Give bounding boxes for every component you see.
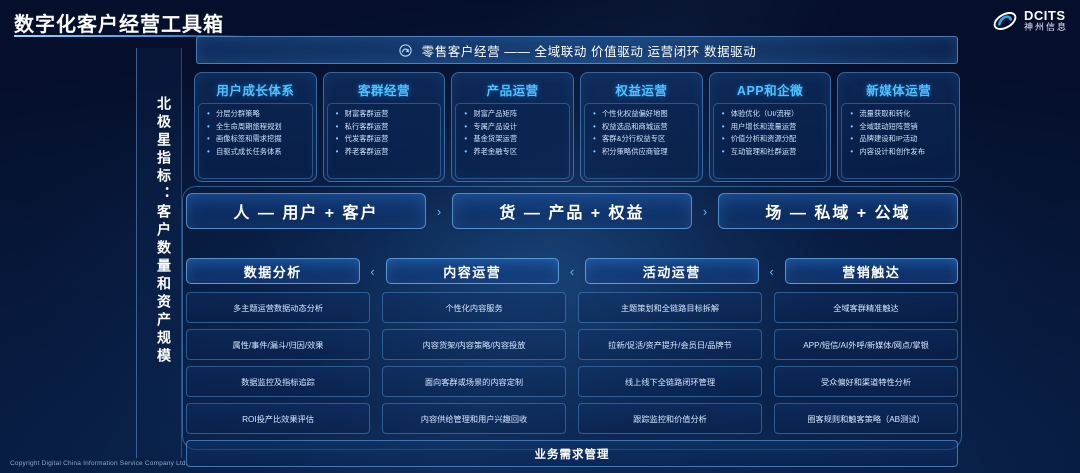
logo-text-cn: 神州信息: [1024, 23, 1068, 32]
card-item: 内容设计和创作发布: [848, 146, 953, 159]
grid-cell[interactable]: 数据监控及指标追踪: [186, 366, 370, 397]
section-arrow-left-icon: ‹: [559, 264, 585, 279]
card-app-wecom[interactable]: APP和企微 体验优化（UI/流程） 用户增长和流量运营 价值分析和资源分配 互…: [709, 72, 832, 182]
card-body: 个性化权益偏好地图 权益选品和商城运营 客群&分行权益专区 积分策略供应商管理: [584, 103, 699, 179]
card-item: 客群&分行权益专区: [591, 133, 696, 146]
grid-column-marketing-reach: 全域客群精准触达 APP/短信/AI外呼/新媒体/网点/掌银 受众偏好和渠道特性…: [774, 292, 958, 434]
section-headers: 数据分析 ‹ 内容运营 ‹ 活动运营 ‹ 营销触达: [186, 258, 958, 284]
card-title: 产品运营: [455, 80, 570, 99]
card-item: 价值分析和资源分配: [720, 133, 825, 146]
flow-arrow-right-icon: ›: [692, 204, 718, 219]
grid-cell[interactable]: 面向客群或场景的内容定制: [382, 366, 566, 397]
section-arrow-left-icon: ‹: [360, 264, 386, 279]
business-requirements-bar[interactable]: 业务需求管理: [186, 440, 958, 467]
grid-cell[interactable]: 内容货架/内容策略/内容投放: [382, 329, 566, 360]
grid-cell[interactable]: 拉新/促活/资产提升/会员日/品牌节: [578, 329, 762, 360]
card-title: 权益运营: [584, 80, 699, 99]
grid-cell[interactable]: 线上线下全链路闭环管理: [578, 366, 762, 397]
grid-cell[interactable]: APP/短信/AI外呼/新媒体/网点/掌银: [774, 329, 958, 360]
card-item: 私行客群运营: [334, 121, 439, 134]
dcits-swirl-logo-icon: [992, 8, 1018, 34]
flow-bars: 人 — 用户 + 客户 › 货 — 产品 + 权益 › 场 — 私域 + 公域: [186, 192, 958, 230]
card-item: 体验优化（UI/流程）: [720, 108, 825, 121]
section-header-campaign-ops[interactable]: 活动运营: [585, 258, 759, 284]
card-item: 养老客群运营: [334, 146, 439, 159]
card-item: 权益选品和商城运营: [591, 121, 696, 134]
card-item: 自驱式成长任务体系: [205, 146, 310, 159]
ribbon-text: 零售客户经营 —— 全域联动 价值驱动 运营闭环 数据驱动: [422, 41, 757, 60]
grid-column-campaign-ops: 主题策划和全链路目标拆解 拉新/促活/资产提升/会员日/品牌节 线上线下全链路闭…: [578, 292, 762, 434]
page-title: 数字化客户经营工具箱: [14, 8, 224, 37]
swirl-arrow-icon: [398, 43, 413, 58]
card-item: 财富客群运营: [334, 108, 439, 121]
flow-bar-field[interactable]: 场 — 私域 + 公域: [718, 193, 958, 229]
capability-cards: 用户成长体系 分层分群策略 全生命周期旅程规划 画像标签和需求挖掘 自驱式成长任…: [194, 72, 960, 182]
card-body: 体验优化（UI/流程） 用户增长和流量运营 价值分析和资源分配 互动管理和社群运…: [713, 103, 828, 179]
north-star-label: 北极星指标：客户数量和资产规模: [146, 96, 172, 366]
card-item: 画像标签和需求挖掘: [205, 133, 310, 146]
grid-cell[interactable]: 个性化内容服务: [382, 292, 566, 323]
card-product-ops[interactable]: 产品运营 财富产品矩阵 专属产品设计 基金货架运营 养老金融专区: [451, 72, 574, 182]
card-body: 流量获取和转化 全域联动短阵营销 品牌建设和IP活动 内容设计和创作发布: [841, 103, 956, 179]
card-item: 专属产品设计: [462, 121, 567, 134]
section-arrow-left-icon: ‹: [759, 264, 785, 279]
card-item: 品牌建设和IP活动: [848, 133, 953, 146]
card-body: 分层分群策略 全生命周期旅程规划 画像标签和需求挖掘 自驱式成长任务体系: [198, 103, 313, 179]
flow-arrow-right-icon: ›: [426, 204, 452, 219]
detail-grid: 多主题运营数据动态分析 属性/事件/漏斗/归因/效果 数据监控及指标追踪 ROI…: [186, 292, 958, 434]
card-body: 财富产品矩阵 专属产品设计 基金货架运营 养老金融专区: [455, 103, 570, 179]
card-new-media[interactable]: 新媒体运营 流量获取和转化 全域联动短阵营销 品牌建设和IP活动 内容设计和创作…: [837, 72, 960, 182]
card-user-growth[interactable]: 用户成长体系 分层分群策略 全生命周期旅程规划 画像标签和需求挖掘 自驱式成长任…: [194, 72, 317, 182]
card-title: 客群经营: [327, 80, 442, 99]
strategy-ribbon: 零售客户经营 —— 全域联动 价值驱动 运营闭环 数据驱动: [196, 36, 958, 64]
grid-cell[interactable]: 多主题运营数据动态分析: [186, 292, 370, 323]
grid-cell[interactable]: 圈客规则和触客策略（AB测试）: [774, 403, 958, 434]
card-item: 用户增长和流量运营: [720, 121, 825, 134]
card-item: 养老金融专区: [462, 146, 567, 159]
grid-cell[interactable]: 全域客群精准触达: [774, 292, 958, 323]
section-header-marketing-reach[interactable]: 营销触达: [785, 258, 959, 284]
card-item: 全域联动短阵营销: [848, 121, 953, 134]
card-item: 流量获取和转化: [848, 108, 953, 121]
grid-column-content-ops: 个性化内容服务 内容货架/内容策略/内容投放 面向客群或场景的内容定制 内容供给…: [382, 292, 566, 434]
card-title: APP和企微: [713, 80, 828, 99]
card-item: 互动管理和社群运营: [720, 146, 825, 159]
card-item: 财富产品矩阵: [462, 108, 567, 121]
card-item: 积分策略供应商管理: [591, 146, 696, 159]
grid-cell[interactable]: 受众偏好和渠道特性分析: [774, 366, 958, 397]
card-body: 财富客群运营 私行客群运营 代发客群运营 养老客群运营: [327, 103, 442, 179]
card-title: 用户成长体系: [198, 80, 313, 99]
card-item: 基金货架运营: [462, 133, 567, 146]
grid-column-data-analysis: 多主题运营数据动态分析 属性/事件/漏斗/归因/效果 数据监控及指标追踪 ROI…: [186, 292, 370, 434]
card-title: 新媒体运营: [841, 80, 956, 99]
brand-logo: DCITS 神州信息: [992, 8, 1068, 34]
card-item: 全生命周期旅程规划: [205, 121, 310, 134]
card-item: 分层分群策略: [205, 108, 310, 121]
section-header-content-ops[interactable]: 内容运营: [386, 258, 560, 284]
grid-cell[interactable]: 内容供给管理和用户兴趣回收: [382, 403, 566, 434]
grid-cell[interactable]: 跟踪监控和价值分析: [578, 403, 762, 434]
grid-cell[interactable]: ROI投产比效果评估: [186, 403, 370, 434]
card-item: 个性化权益偏好地图: [591, 108, 696, 121]
flow-bar-goods[interactable]: 货 — 产品 + 权益: [452, 193, 692, 229]
flow-bar-people[interactable]: 人 — 用户 + 客户: [186, 193, 426, 229]
card-item: 代发客群运营: [334, 133, 439, 146]
card-benefits-ops[interactable]: 权益运营 个性化权益偏好地图 权益选品和商城运营 客群&分行权益专区 积分策略供…: [580, 72, 703, 182]
grid-cell[interactable]: 属性/事件/漏斗/归因/效果: [186, 329, 370, 360]
grid-cell[interactable]: 主题策划和全链路目标拆解: [578, 292, 762, 323]
card-customer-group[interactable]: 客群经营 财富客群运营 私行客群运营 代发客群运营 养老客群运营: [323, 72, 446, 182]
section-header-data-analysis[interactable]: 数据分析: [186, 258, 360, 284]
copyright-text: Copyright Digital China Information Serv…: [10, 460, 188, 467]
